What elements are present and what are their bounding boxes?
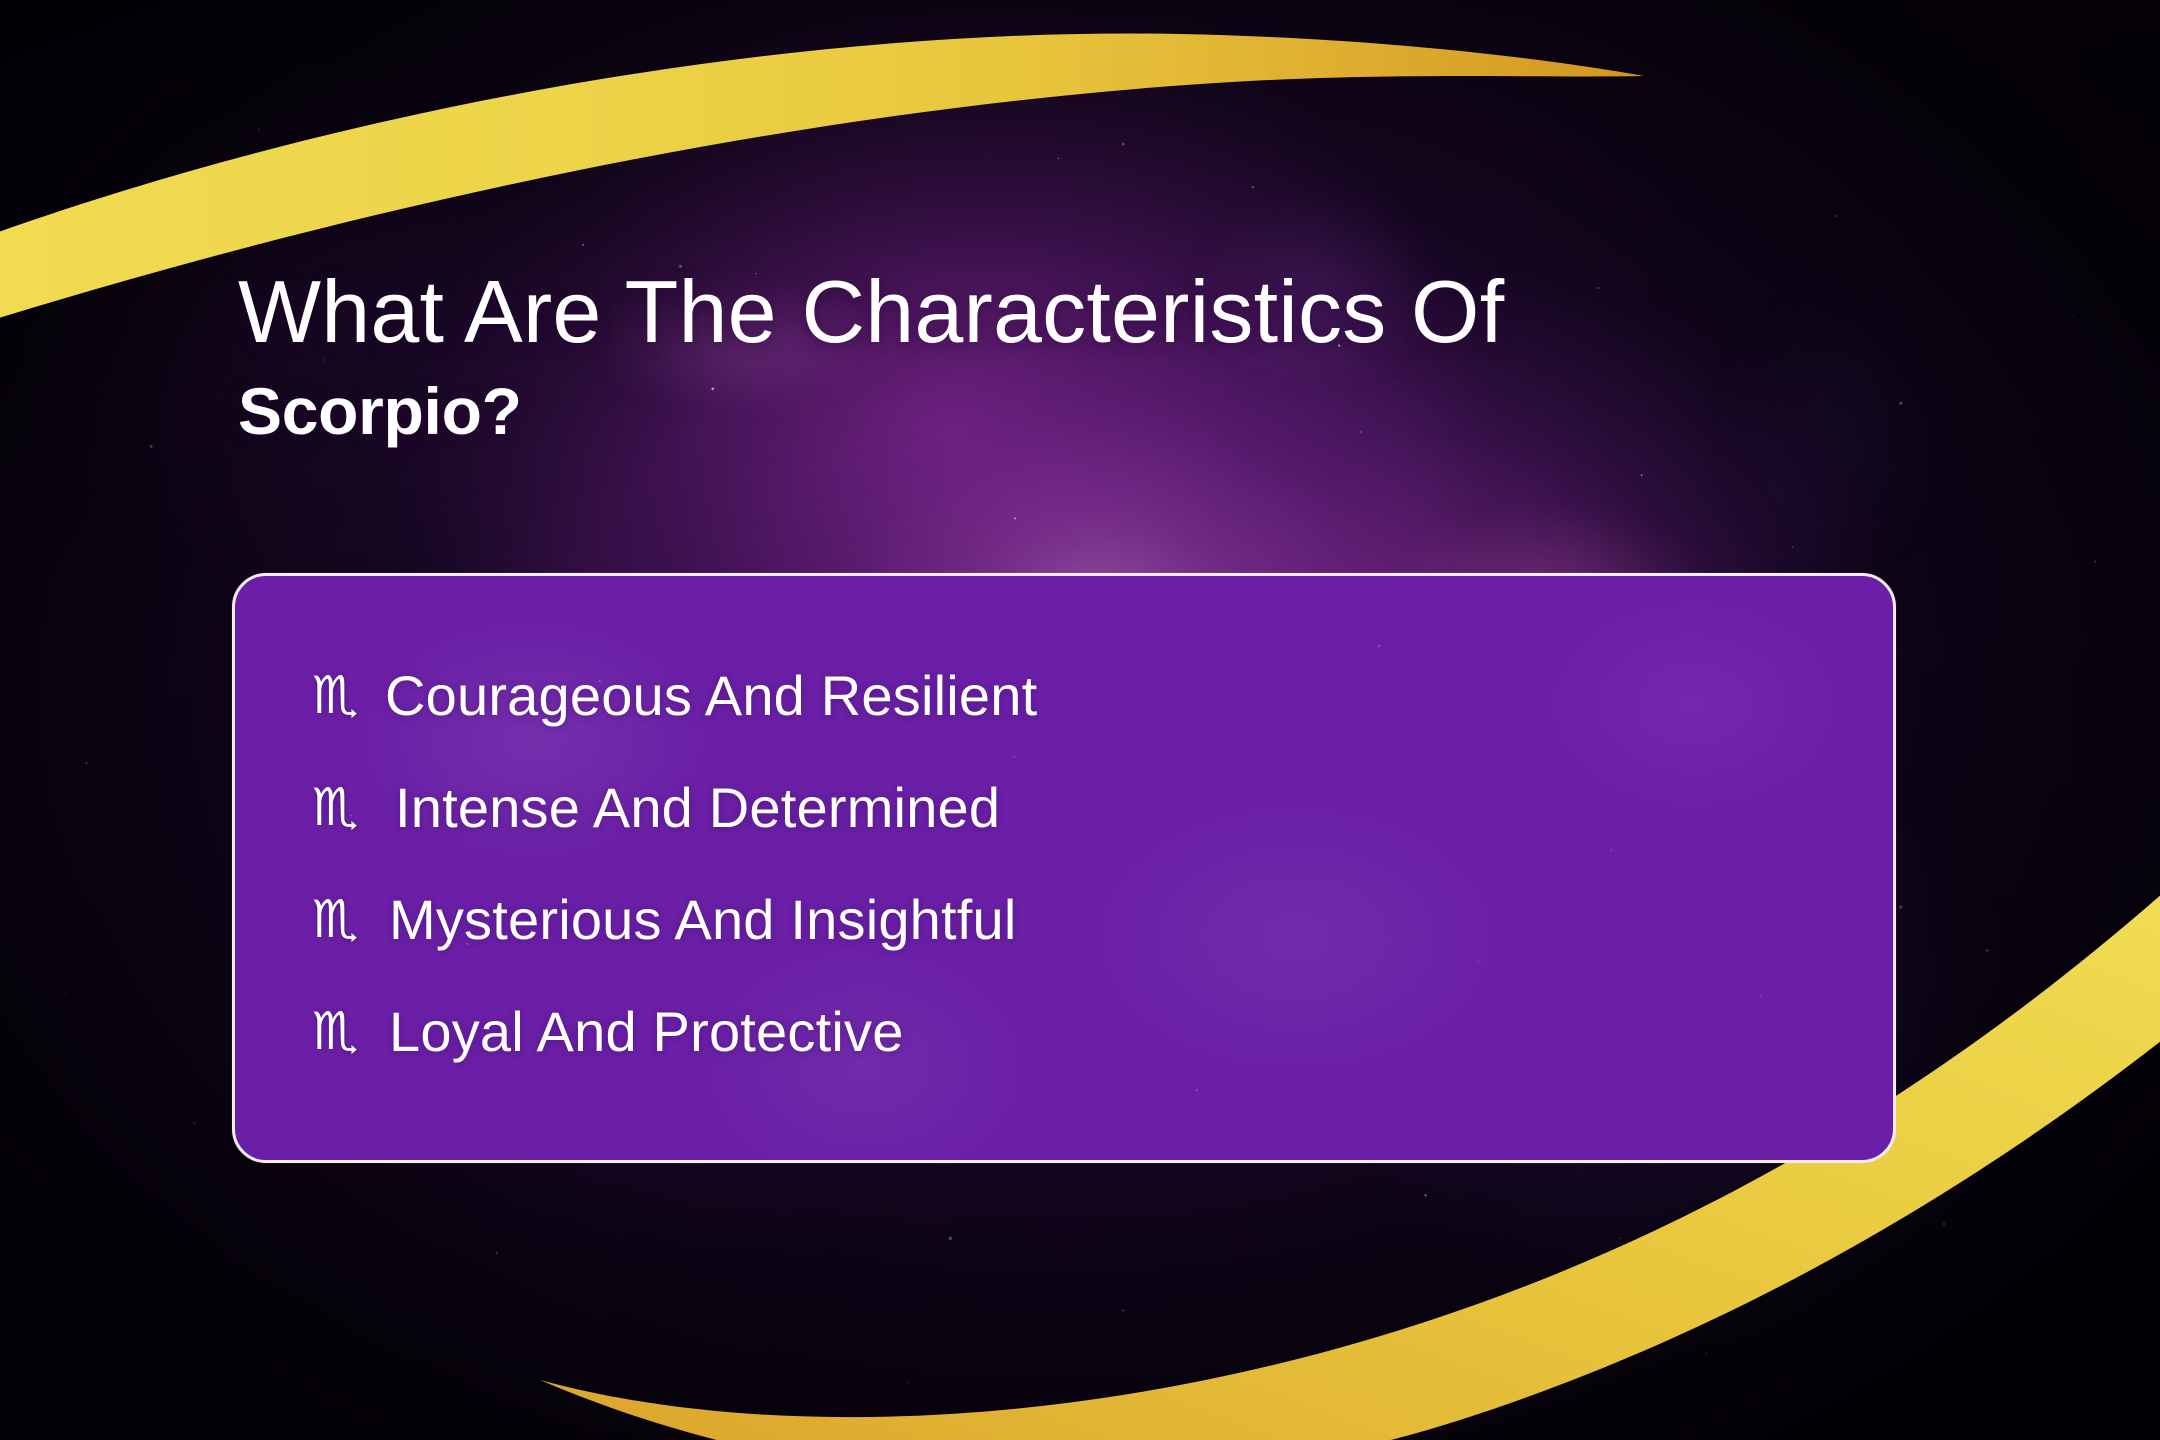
- scorpio-glyph-icon: ♏: [287, 670, 383, 722]
- scorpio-glyph-icon: ♏: [287, 782, 383, 834]
- list-item: ♏ Courageous And Resilient: [287, 640, 1893, 752]
- trait-label: Courageous And Resilient: [385, 668, 1037, 724]
- headline-emphasis: Scorpio?: [238, 378, 1938, 444]
- list-item: ♏ Intense And Determined: [287, 752, 1893, 864]
- trait-label: Mysterious And Insightful: [389, 892, 1017, 948]
- poster-canvas: What Are The Characteristics Of Scorpio?…: [0, 0, 2160, 1440]
- scorpio-glyph-icon: ♏: [287, 894, 383, 946]
- headline-primary: What Are The Characteristics Of: [238, 268, 1938, 356]
- scorpio-glyph-icon: ♏: [287, 1006, 383, 1058]
- traits-list: ♏ Courageous And Resilient ♏ Intense And…: [235, 576, 1893, 1088]
- traits-card: ♏ Courageous And Resilient ♏ Intense And…: [232, 573, 1896, 1163]
- trait-label: Intense And Determined: [395, 780, 1000, 836]
- headline-block: What Are The Characteristics Of Scorpio?: [238, 268, 1938, 444]
- list-item: ♏ Loyal And Protective: [287, 976, 1893, 1088]
- trait-label: Loyal And Protective: [389, 1004, 904, 1060]
- list-item: ♏ Mysterious And Insightful: [287, 864, 1893, 976]
